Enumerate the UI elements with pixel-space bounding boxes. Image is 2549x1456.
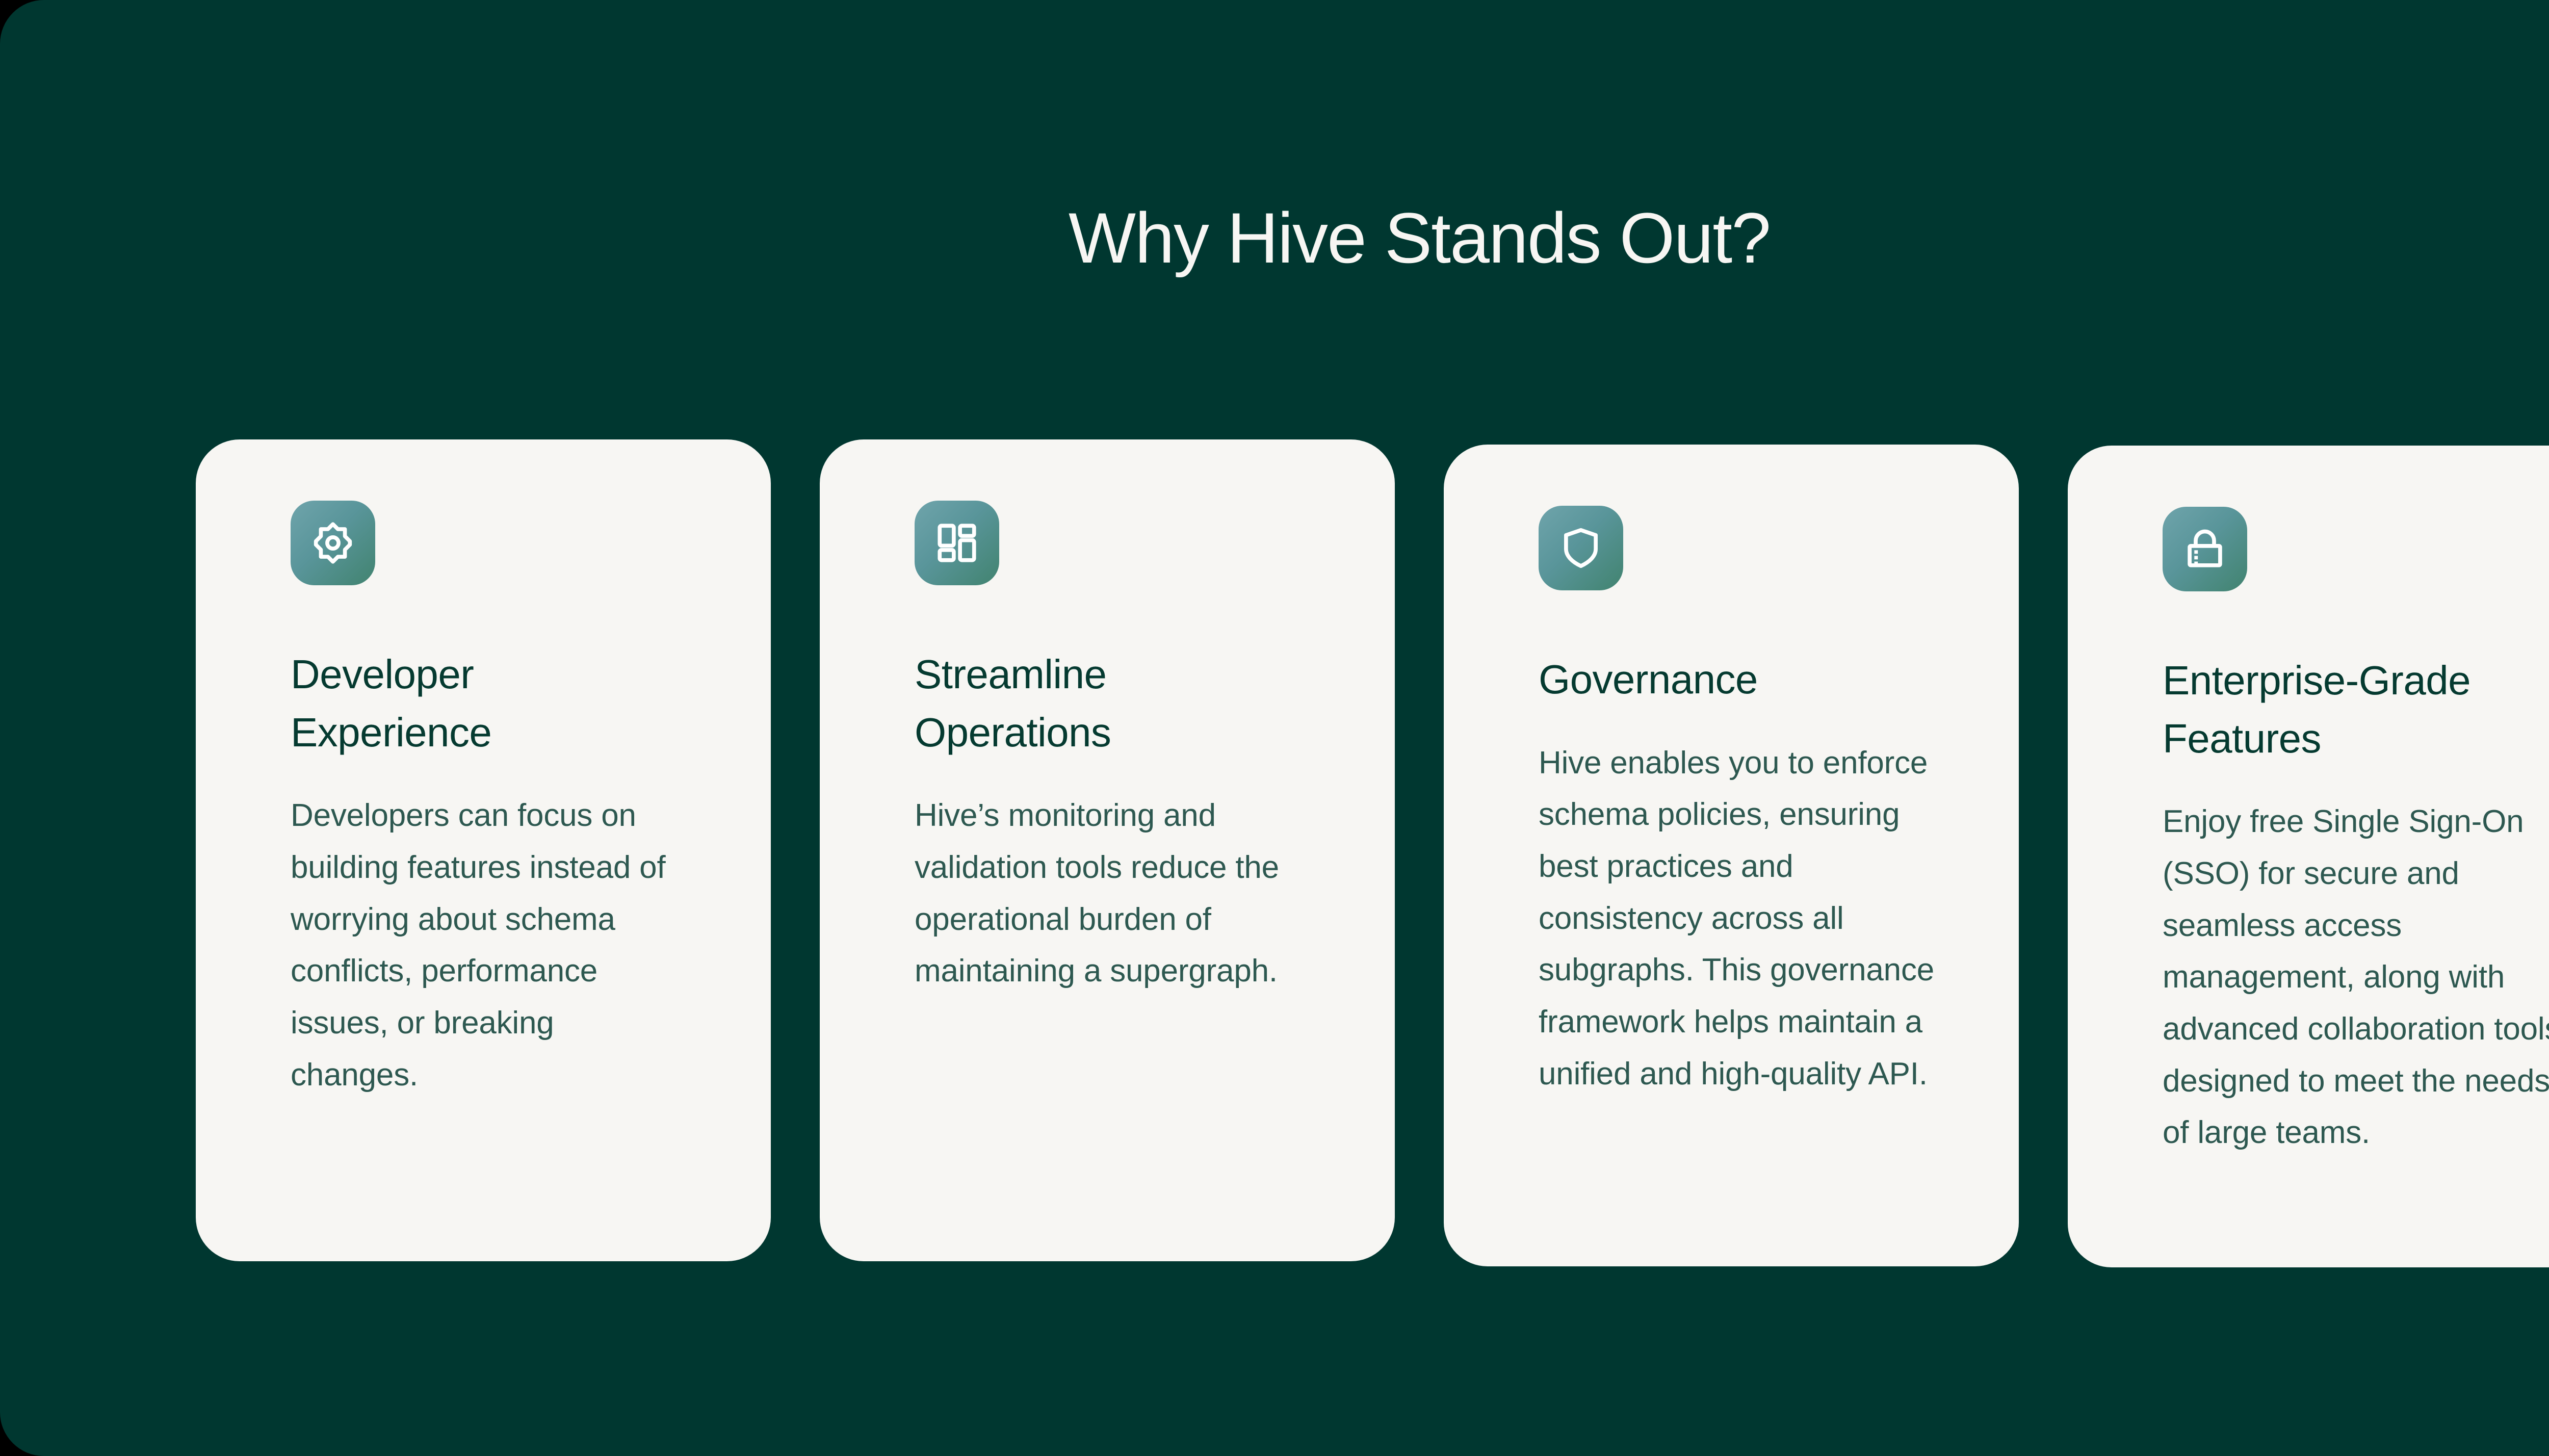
shield-icon: [1557, 525, 1604, 571]
icon-tile: [2163, 507, 2247, 591]
card-body: Hive’s monitoring and validation tools r…: [915, 790, 1307, 997]
dashboard-grid-icon: [933, 519, 980, 566]
icon-tile: [915, 501, 999, 585]
feature-card-developer-experience[interactable]: Developer Experience Developers can focu…: [196, 439, 771, 1261]
feature-section: Why Hive Stands Out? Developer Experienc…: [0, 0, 2549, 1456]
card-title: Enterprise-Grade Features: [2163, 652, 2549, 767]
lock-icon: [2181, 526, 2228, 573]
card-title: Streamline Operations: [915, 645, 1302, 761]
settings-gear-icon: [309, 519, 356, 566]
page-title: Why Hive Stands Out?: [0, 199, 2549, 277]
feature-card-grid: Developer Experience Developers can focu…: [196, 439, 2549, 1263]
card-body: Enjoy free Single Sign-On (SSO) for secu…: [2163, 796, 2549, 1159]
feature-card-streamline-operations[interactable]: Streamline Operations Hive’s monitoring …: [820, 439, 1395, 1261]
icon-tile: [1539, 506, 1623, 590]
feature-card-governance[interactable]: Governance Hive enables you to enforce s…: [1444, 445, 2019, 1266]
card-body: Hive enables you to enforce schema polic…: [1539, 737, 1941, 1100]
card-body: Developers can focus on building feature…: [291, 790, 683, 1101]
card-title: Governance: [1539, 651, 1926, 709]
icon-tile: [291, 501, 375, 585]
card-title: Developer Experience: [291, 645, 678, 761]
feature-card-enterprise-grade-features[interactable]: Enterprise-Grade Features Enjoy free Sin…: [2068, 446, 2549, 1267]
